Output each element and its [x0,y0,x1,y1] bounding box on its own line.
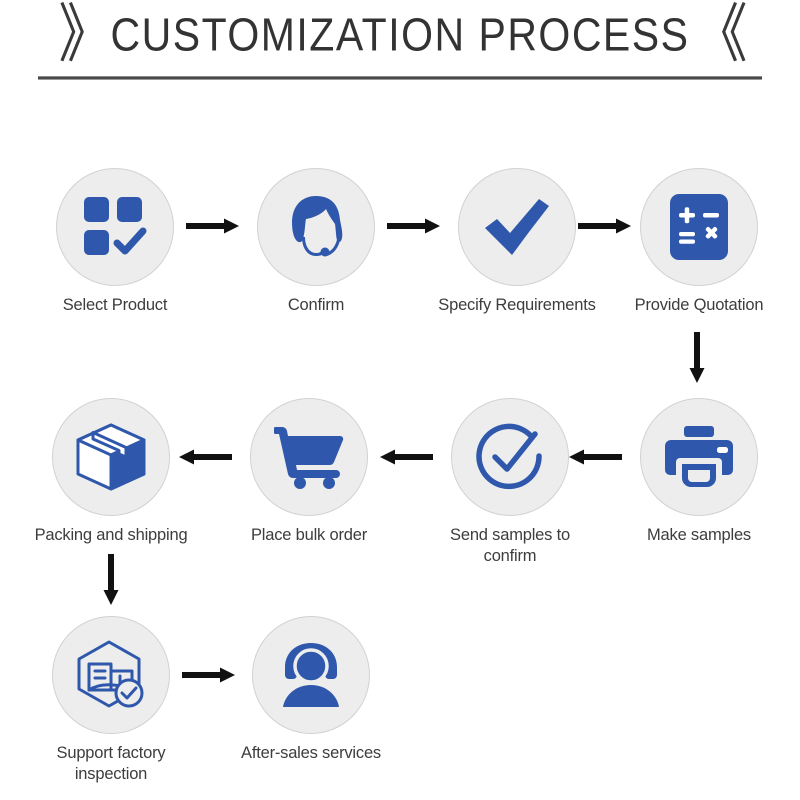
step-icon-circle [56,168,174,286]
arrow-down-icon [688,332,706,384]
shopping-cart-icon [274,425,344,489]
step-node-confirm[interactable]: Confirm [236,168,396,316]
arrow-quotation-to-samples [688,332,706,384]
step-icon-circle [52,616,170,734]
support-person-icon [276,642,346,708]
step-label: After-sales services [231,743,391,764]
step-node-provide-quotation[interactable]: Provide Quotation [619,168,779,316]
page-title-text: CUSTOMIZATION PROCESS [107,5,694,65]
step-node-specify-requirements[interactable]: Specify Requirements [437,168,597,316]
circle-check-icon [475,422,545,492]
arrow-confirm-to-specify [387,217,441,235]
step-label: Place bulk order [229,525,389,546]
arrow-right-icon [182,666,236,684]
title-divider [38,76,762,80]
step-icon-circle [451,398,569,516]
step-label: Provide Quotation [619,295,779,316]
step-node-send-samples-to-confirm[interactable]: Send samples to confirm [430,398,590,567]
step-icon-circle [458,168,576,286]
checkmark-icon [483,197,551,257]
step-icon-circle [252,616,370,734]
step-label: Specify Requirements [437,295,597,316]
package-box-icon [76,423,146,491]
arrow-right-icon [387,217,441,235]
arrow-inspection-to-aftersales [182,666,236,684]
step-icon-circle [640,398,758,516]
step-node-packing-and-shipping[interactable]: Packing and shipping [31,398,191,546]
step-icon-circle [250,398,368,516]
step-node-after-sales-services[interactable]: After-sales services [231,616,391,764]
printer-icon [665,426,733,488]
arrow-packing-to-inspection [102,554,120,606]
step-label: Support factory inspection [31,743,191,785]
step-icon-circle [52,398,170,516]
step-label: Confirm [236,295,396,316]
step-label: Packing and shipping [31,525,191,546]
page-title: 》CUSTOMIZATION PROCESS《 [0,8,800,62]
arrow-select-to-confirm [186,217,240,235]
factory-inspection-icon [75,640,147,710]
step-icon-circle [640,168,758,286]
chevron-right-decor-icon: 《 [693,3,741,67]
step-node-support-factory-inspection[interactable]: Support factory inspection [31,616,191,785]
step-node-place-bulk-order[interactable]: Place bulk order [229,398,389,546]
step-label: Make samples [619,525,779,546]
calculator-icon [670,194,728,260]
arrow-right-icon [186,217,240,235]
step-node-make-samples[interactable]: Make samples [619,398,779,546]
arrow-down-icon [102,554,120,606]
headset-agent-icon [280,191,352,263]
page-header: 》CUSTOMIZATION PROCESS《 [0,0,800,95]
step-node-select-product[interactable]: Select Product [35,168,195,316]
four-squares-check-icon [83,196,147,258]
step-icon-circle [257,168,375,286]
chevron-left-decor-icon: 》 [59,3,107,67]
step-label: Select Product [35,295,195,316]
step-label: Send samples to confirm [430,525,590,567]
